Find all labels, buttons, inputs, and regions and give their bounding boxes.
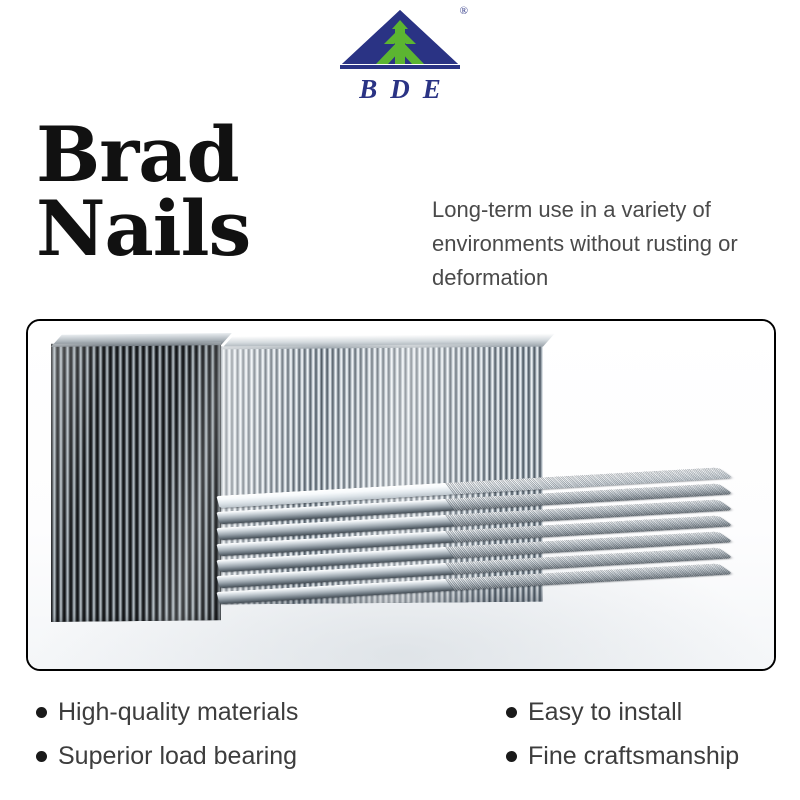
product-photo — [28, 321, 774, 669]
product-banner: ® BDE Brad Nails Long-term use in a vari… — [0, 0, 800, 800]
triangle-tree-logo-icon: ® — [338, 8, 462, 70]
bullet-dot-icon — [36, 751, 47, 762]
feature-label: Fine craftsmanship — [528, 742, 739, 771]
list-item: Superior load bearing — [36, 734, 506, 778]
registered-trademark-icon: ® — [460, 6, 468, 17]
title-line-2: Nails — [36, 192, 436, 266]
feature-list: High-quality materials Easy to install S… — [36, 690, 766, 778]
list-item: High-quality materials — [36, 690, 506, 734]
brand-logo: ® BDE — [0, 8, 800, 105]
feature-label: Superior load bearing — [58, 742, 297, 771]
page-title: Brad Nails — [36, 118, 436, 265]
product-image-frame — [26, 319, 776, 671]
list-item: Easy to install — [506, 690, 766, 734]
nail-strip-stack — [218, 489, 763, 659]
bullet-dot-icon — [506, 751, 517, 762]
list-item: Fine craftsmanship — [506, 734, 766, 778]
bullet-dot-icon — [506, 707, 517, 718]
product-description: Long-term use in a variety of environmen… — [432, 193, 774, 295]
brand-name: BDE — [346, 74, 454, 105]
bullet-dot-icon — [36, 707, 47, 718]
feature-label: High-quality materials — [58, 698, 298, 727]
nail-block-dark — [51, 342, 221, 622]
feature-label: Easy to install — [528, 698, 682, 727]
